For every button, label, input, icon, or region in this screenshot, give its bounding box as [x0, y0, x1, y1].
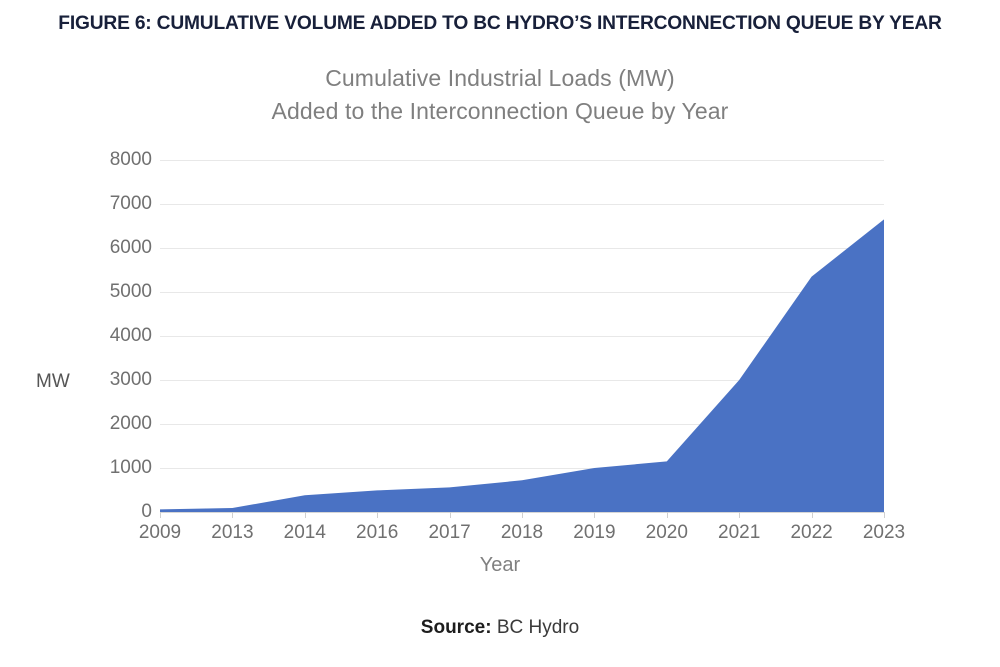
x-tick-mark: [812, 512, 813, 518]
y-tick-label: 2000: [82, 414, 152, 433]
x-tick-mark: [160, 512, 161, 518]
x-tick-mark: [739, 512, 740, 518]
y-tick-label: 1000: [82, 458, 152, 477]
x-axis-tick-marks: [160, 512, 884, 519]
y-tick-label: 4000: [82, 326, 152, 345]
x-tick-mark: [305, 512, 306, 518]
x-tick-label: 2020: [632, 522, 702, 544]
x-axis-tick-labels: 2009201320142016201720182019202020212022…: [160, 522, 884, 552]
x-tick-mark: [667, 512, 668, 518]
x-tick-label: 2013: [197, 522, 267, 544]
plot-area: [160, 160, 884, 512]
chart-title-line-2: Added to the Interconnection Queue by Ye…: [0, 95, 1000, 128]
source-value: BC Hydro: [497, 617, 579, 638]
x-tick-mark: [450, 512, 451, 518]
x-tick-label: 2014: [270, 522, 340, 544]
chart-title-line-1: Cumulative Industrial Loads (MW): [0, 62, 1000, 95]
source-line: Source: BC Hydro: [0, 617, 1000, 639]
x-tick-label: 2022: [777, 522, 847, 544]
x-tick-mark: [232, 512, 233, 518]
x-tick-label: 2023: [849, 522, 919, 544]
x-tick-mark: [884, 512, 885, 518]
x-tick-label: 2021: [704, 522, 774, 544]
chart-title: Cumulative Industrial Loads (MW) Added t…: [0, 62, 1000, 128]
figure-heading: FIGURE 6: CUMULATIVE VOLUME ADDED TO BC …: [8, 12, 993, 35]
chart-figure: Cumulative Industrial Loads (MW) Added t…: [0, 52, 1000, 612]
x-tick-mark: [594, 512, 595, 518]
area-series-fill: [160, 219, 884, 512]
y-axis-tick-labels: 010002000300040005000600070008000: [74, 160, 152, 512]
y-tick-label: 7000: [82, 194, 152, 213]
y-tick-label: 8000: [82, 150, 152, 169]
y-tick-label: 6000: [82, 238, 152, 257]
x-tick-label: 2017: [415, 522, 485, 544]
y-tick-label: 5000: [82, 282, 152, 301]
y-tick-label: 0: [82, 502, 152, 521]
x-axis-title: Year: [0, 554, 1000, 577]
x-tick-label: 2019: [559, 522, 629, 544]
y-tick-label: 3000: [82, 370, 152, 389]
x-tick-mark: [377, 512, 378, 518]
x-tick-label: 2009: [125, 522, 195, 544]
x-tick-label: 2018: [487, 522, 557, 544]
area-series-svg: [160, 160, 884, 512]
x-tick-label: 2016: [342, 522, 412, 544]
x-tick-mark: [522, 512, 523, 518]
source-label: Source:: [421, 617, 492, 638]
